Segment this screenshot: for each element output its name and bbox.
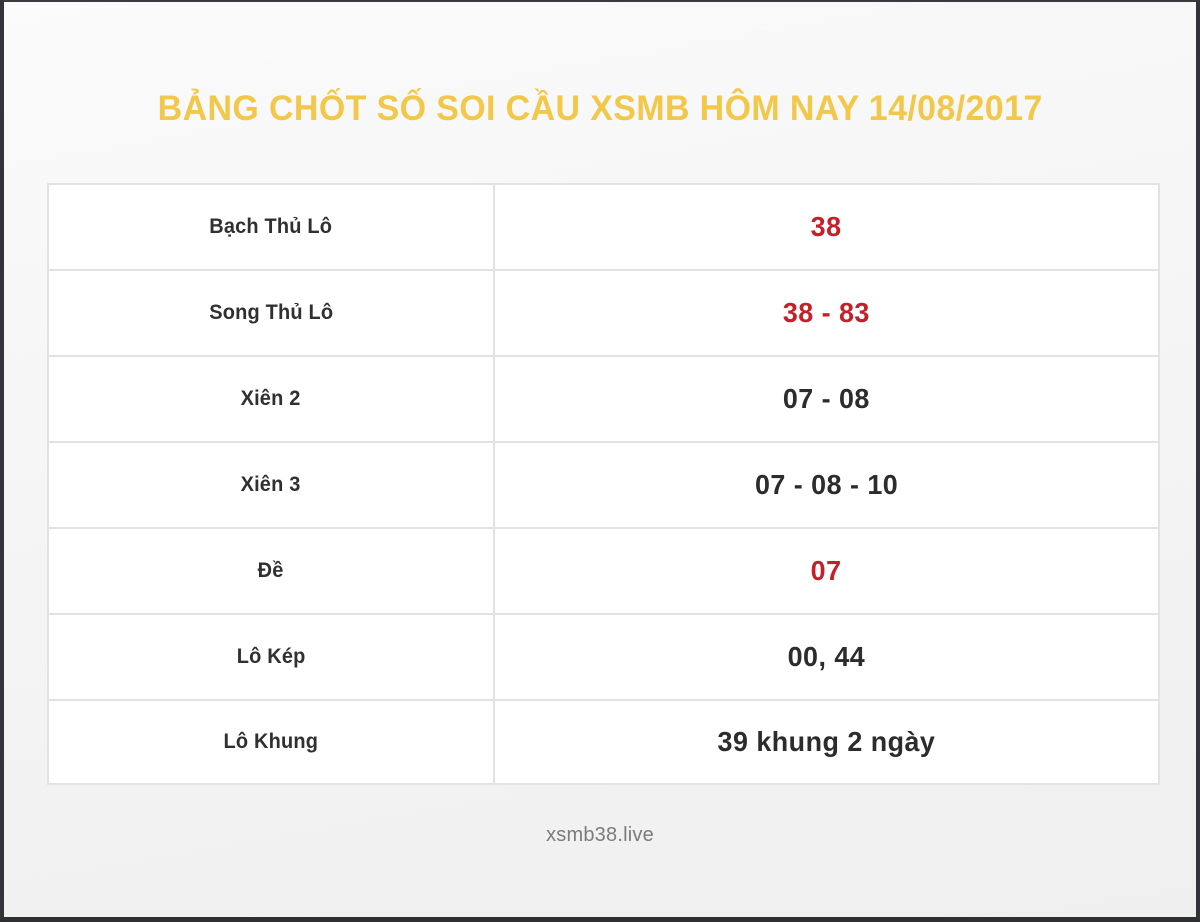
- row-label-cell: Song Thủ Lô: [47, 269, 493, 355]
- row-label-cell: Xiên 3: [47, 441, 493, 527]
- page-title-container: BẢNG CHỐT SỐ SOI CẦU XSMB HÔM NAY 14/08/…: [4, 90, 1196, 129]
- row-value-cell: 07 - 08: [493, 355, 1160, 441]
- row-value: 38 - 83: [783, 297, 870, 329]
- prediction-board: Bạch Thủ Lô 38 Song Thủ Lô 38 - 83: [47, 183, 1160, 785]
- row-value: 07 - 08: [783, 383, 870, 415]
- table-row: Song Thủ Lô 38 - 83: [47, 269, 1160, 355]
- row-label: Xiên 3: [241, 473, 301, 497]
- row-label-cell: Bạch Thủ Lô: [47, 183, 493, 269]
- row-label-cell: Lô Kép: [47, 613, 493, 699]
- row-value: 00, 44: [788, 641, 866, 673]
- row-label: Lô Kép: [237, 645, 306, 669]
- page-frame: BẢNG CHỐT SỐ SOI CẦU XSMB HÔM NAY 14/08/…: [0, 0, 1200, 922]
- card-inner: BẢNG CHỐT SỐ SOI CẦU XSMB HÔM NAY 14/08/…: [4, 2, 1196, 917]
- row-label: Đề: [258, 559, 284, 583]
- table-row: Lô Kép 00, 44: [47, 613, 1160, 699]
- row-label: Bạch Thủ Lô: [210, 215, 333, 239]
- table-row: Đề 07: [47, 527, 1160, 613]
- row-value-cell: 07 - 08 - 10: [493, 441, 1160, 527]
- row-value-cell: 38: [493, 183, 1160, 269]
- row-label-cell: Xiên 2: [47, 355, 493, 441]
- row-value: 39 khung 2 ngày: [718, 726, 936, 758]
- page-title: BẢNG CHỐT SỐ SOI CẦU XSMB HÔM NAY 14/08/…: [158, 90, 1043, 129]
- footer: xsmb38.live: [4, 824, 1196, 847]
- row-label-cell: Lô Khung: [47, 699, 493, 785]
- row-value-cell: 38 - 83: [493, 269, 1160, 355]
- table-row: Xiên 2 07 - 08: [47, 355, 1160, 441]
- prediction-table-body: Bạch Thủ Lô 38 Song Thủ Lô 38 - 83: [47, 183, 1160, 785]
- row-value-cell: 00, 44: [493, 613, 1160, 699]
- row-label: Lô Khung: [224, 730, 319, 754]
- row-value-cell: 39 khung 2 ngày: [493, 699, 1160, 785]
- table-row: Xiên 3 07 - 08 - 10: [47, 441, 1160, 527]
- row-label: Song Thủ Lô: [209, 301, 333, 325]
- prediction-table: Bạch Thủ Lô 38 Song Thủ Lô 38 - 83: [47, 183, 1160, 785]
- table-row: Lô Khung 39 khung 2 ngày: [47, 699, 1160, 785]
- row-label-cell: Đề: [47, 527, 493, 613]
- table-row: Bạch Thủ Lô 38: [47, 183, 1160, 269]
- row-value: 07: [811, 555, 842, 587]
- row-label: Xiên 2: [241, 387, 301, 411]
- row-value: 38: [811, 211, 842, 243]
- row-value: 07 - 08 - 10: [755, 469, 898, 501]
- site-watermark: xsmb38.live: [546, 824, 654, 846]
- row-value-cell: 07: [493, 527, 1160, 613]
